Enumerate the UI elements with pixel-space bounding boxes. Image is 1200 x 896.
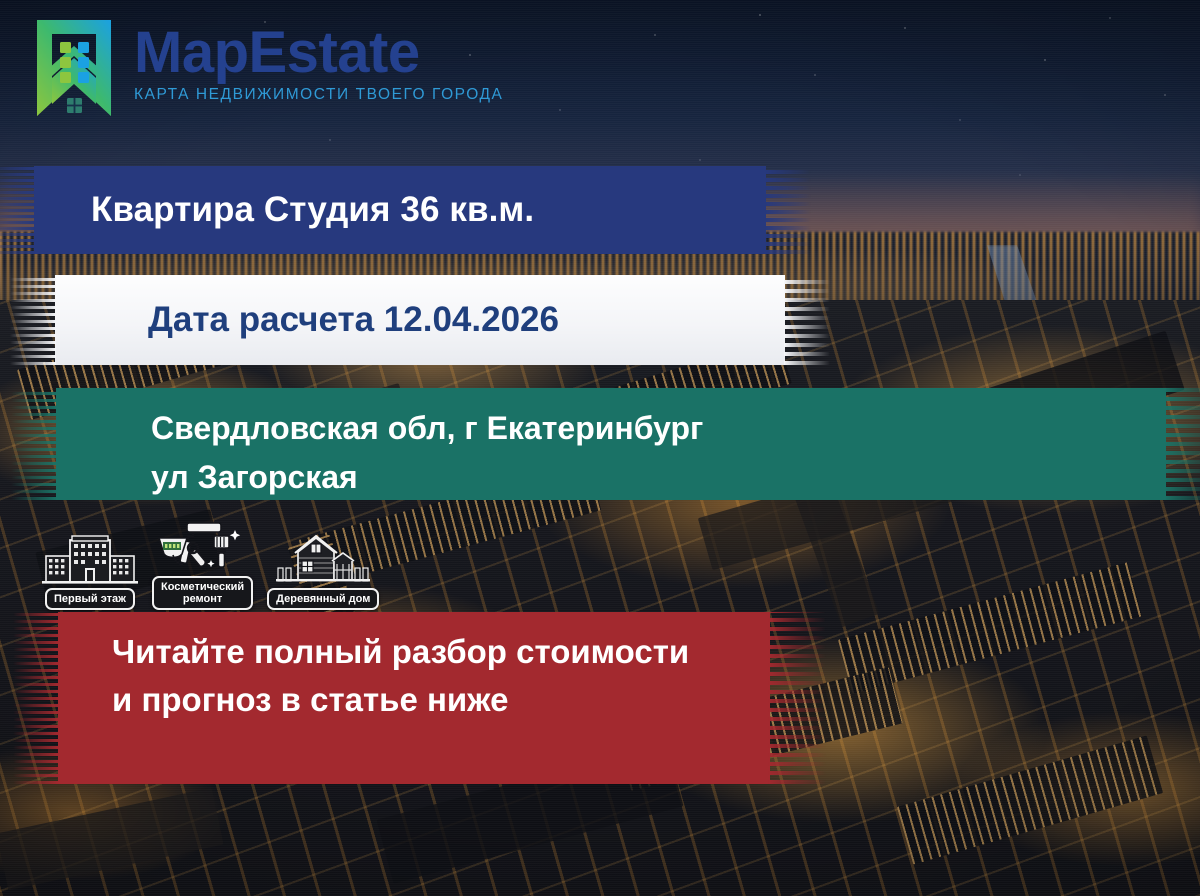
address-line-region-city: Свердловская обл, г Екатеринбург <box>151 404 1166 453</box>
feature-label-first-floor: Первый этаж <box>45 588 135 610</box>
apartment-banner-text: Квартира Студия 36 кв.м. <box>34 166 766 254</box>
address-banner-text: Свердловская обл, г Екатеринбург ул Заго… <box>56 388 1166 502</box>
calculation-date-banner: Дата расчета 12.04.2026 <box>55 275 785 365</box>
feature-label-wooden-house: Деревянный дом <box>267 588 379 610</box>
wooden-house-icon <box>276 534 370 586</box>
logo-wordmark: MapEstate <box>134 22 503 84</box>
address-banner: Свердловская обл, г Екатеринбург ул Заго… <box>56 388 1166 500</box>
bookmark-building-icon <box>32 16 116 120</box>
brand-logo[interactable]: MapEstate КАРТА НЕДВИЖИМОСТИ ТВОЕГО ГОРО… <box>32 16 503 120</box>
address-line-street: ул Загорская <box>151 453 1166 502</box>
cta-banner-text: Читайте полный разбор стоимости и прогно… <box>58 612 718 724</box>
paint-roller-brush-icon <box>157 522 249 574</box>
feature-badges: Первый этаж <box>42 522 379 610</box>
cta-banner[interactable]: Читайте полный разбор стоимости и прогно… <box>58 612 770 784</box>
feature-badge-cosmetic-renovation[interactable]: Косметический ремонт <box>152 522 253 610</box>
calculation-date-text: Дата расчета 12.04.2026 <box>55 275 785 365</box>
promo-poster: MapEstate КАРТА НЕДВИЖИМОСТИ ТВОЕГО ГОРО… <box>0 0 1200 896</box>
apartment-banner: Квартира Студия 36 кв.м. <box>34 166 766 254</box>
feature-badge-first-floor[interactable]: Первый этаж <box>42 534 138 610</box>
apartment-building-icon <box>42 534 138 586</box>
logo-tagline: КАРТА НЕДВИЖИМОСТИ ТВОЕГО ГОРОДА <box>134 86 503 104</box>
feature-badge-wooden-house[interactable]: Деревянный дом <box>267 534 379 610</box>
feature-label-cosmetic-renovation: Косметический ремонт <box>152 576 253 610</box>
